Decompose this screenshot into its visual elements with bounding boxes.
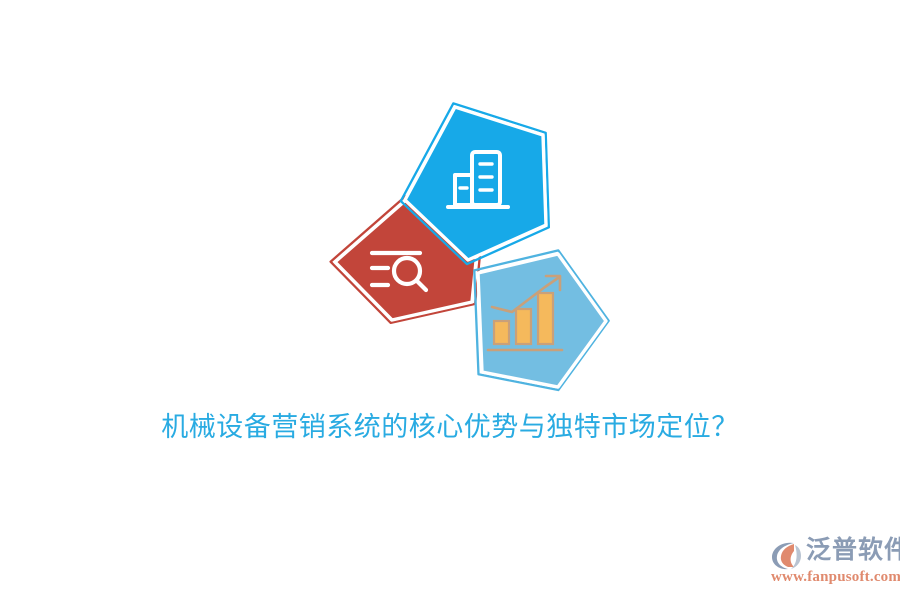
pentagon-lightblue (474, 250, 608, 390)
pentagon-cluster-graphic (300, 95, 630, 405)
brand-name: 泛普软件 (806, 535, 900, 565)
page-title: 机械设备营销系统的核心优势与独特市场定位？ (0, 405, 900, 444)
brand-logo: 泛普软件 www.fanpusoft.com (768, 534, 894, 592)
page-canvas: 机械设备营销系统的核心优势与独特市场定位？ 泛普软件 www.fanpusoft… (0, 0, 900, 600)
brand-url: www.fanpusoft.com (771, 569, 900, 586)
fanpu-logo-icon (770, 538, 804, 572)
